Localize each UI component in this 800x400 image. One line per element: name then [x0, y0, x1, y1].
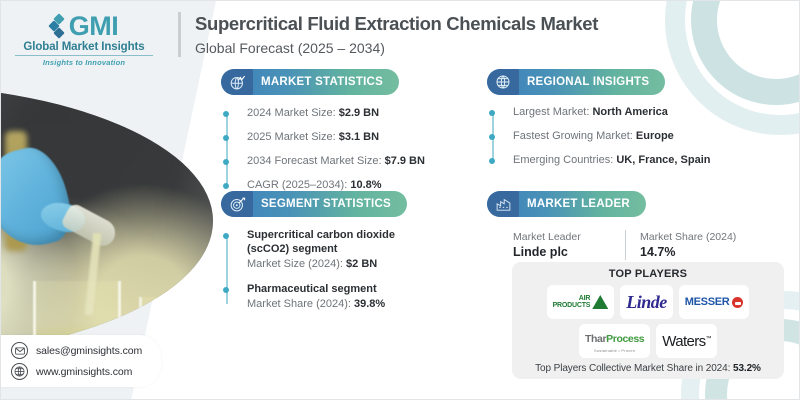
section-header-segment-statistics: SEGMENT STATISTICS — [221, 191, 407, 217]
market-share-cell: Market Share (2024) 14.7% — [625, 230, 737, 260]
lab-photo — [1, 85, 213, 357]
stat-key: 2034 Forecast Market Size: — [247, 155, 382, 167]
list-item: Pharmaceutical segment Market Share (202… — [247, 282, 432, 312]
diamonds-icon — [50, 14, 67, 40]
pill-label: MARKET LEADER — [527, 198, 630, 210]
gmi-logo: GMI Global Market Insights Insights to I… — [9, 13, 159, 67]
globe-icon — [11, 363, 28, 380]
region-key: Fastest Growing Market: — [513, 130, 633, 142]
logo-letters: GMI — [69, 13, 119, 40]
list-item: Supercritical carbon dioxide (scCO2) seg… — [247, 228, 432, 272]
logo-company-name: Global Market Insights — [9, 41, 159, 53]
stat-value: $3.1 BN — [339, 131, 379, 143]
list-item: 2034 Forecast Market Size: $7.9 BN — [247, 154, 425, 169]
list-item: Fastest Growing Market: Europe — [513, 129, 710, 144]
leader-key: Market Leader — [513, 230, 625, 244]
top-players-panel: TOP PLAYERS AIR PRODUCTS Linde MESSER — [512, 262, 784, 379]
leader-value: Linde plc — [513, 244, 625, 260]
segment-statistics-list: Supercritical carbon dioxide (scCO2) seg… — [221, 228, 432, 312]
pill-label: REGIONAL INSIGHTS — [527, 76, 649, 88]
title-main: Supercritical Fluid Extraction Chemicals… — [195, 12, 598, 35]
linde-wordmark: Linde — [626, 292, 667, 313]
waters-trademark: ™ — [706, 336, 711, 342]
player-logo-air-products: AIR PRODUCTS — [547, 285, 615, 319]
player-logo-waters: Waters™ — [656, 324, 717, 358]
segment-metric-value: $2 BN — [346, 258, 377, 270]
logo-tagline: Insights to Innovation — [9, 58, 159, 67]
segment-metric: Market Share (2024): 39.8% — [247, 297, 432, 312]
thar-part-b: Process — [606, 333, 644, 345]
contact-email-row[interactable]: sales@gminsights.com — [11, 342, 151, 359]
list-item: Emerging Countries: UK, France, Spain — [513, 153, 710, 168]
section-header-market-leader: MARKET LEADER — [487, 191, 646, 217]
factory-icon — [487, 191, 519, 217]
region-value: UK, France, Spain — [616, 154, 710, 166]
infographic-canvas: GMI Global Market Insights Insights to I… — [0, 0, 800, 400]
page-title: Supercritical Fluid Extraction Chemicals… — [178, 12, 598, 57]
segment-metric-key: Market Share (2024): — [247, 298, 351, 310]
title-subtitle: Global Forecast (2025 – 2034) — [195, 39, 598, 57]
globe-icon — [487, 69, 519, 95]
list-item: 2025 Market Size: $3.1 BN — [247, 130, 425, 145]
player-logo-linde: Linde — [620, 285, 673, 319]
stat-value: $2.9 BN — [339, 107, 379, 119]
top-players-footer: Top Players Collective Market Share in 2… — [520, 363, 776, 374]
list-item: 2024 Market Size: $2.9 BN — [247, 106, 425, 121]
thar-tagline: Sustainable • Proven — [585, 348, 644, 353]
market-statistics-list: 2024 Market Size: $2.9 BN 2025 Market Si… — [221, 106, 425, 193]
segment-heading: Supercritical carbon dioxide (scCO2) seg… — [247, 228, 432, 256]
share-key: Market Share (2024) — [640, 230, 737, 244]
footer-value: 53.2% — [733, 363, 761, 374]
contact-email[interactable]: sales@gminsights.com — [36, 345, 142, 357]
market-leader-cell: Market Leader Linde plc — [513, 230, 625, 260]
top-players-row-1: AIR PRODUCTS Linde MESSER — [520, 285, 776, 319]
share-value: 14.7% — [640, 244, 737, 260]
section-header-market-statistics: MARKET STATISTICS — [221, 69, 399, 95]
stat-key: 2024 Market Size: — [247, 107, 336, 119]
player-logo-messer: MESSER — [679, 285, 750, 319]
envelope-icon — [11, 342, 28, 359]
region-value: North America — [592, 106, 667, 118]
segment-metric-key: Market Size (2024): — [247, 258, 343, 270]
section-market-statistics: MARKET STATISTICS 2024 Market Size: $2.9… — [221, 69, 425, 193]
player-logo-thar-process: TharProcess Sustainable • Proven — [579, 324, 650, 358]
market-leader-values: Market Leader Linde plc Market Share (20… — [487, 230, 737, 260]
globe-chart-icon — [221, 69, 253, 95]
contact-card: sales@gminsights.com www.gminsights.com — [0, 335, 161, 387]
regional-insights-list: Largest Market: North America Fastest Gr… — [487, 105, 710, 168]
section-header-regional-insights: REGIONAL INSIGHTS — [487, 69, 665, 95]
contact-website[interactable]: www.gminsights.com — [36, 366, 132, 378]
waters-wordmark: Waters — [662, 333, 705, 350]
air-products-line1: AIR — [579, 295, 590, 302]
segment-heading: Pharmaceutical segment — [247, 282, 432, 296]
top-players-title: TOP PLAYERS — [520, 268, 776, 280]
messer-wordmark: MESSER — [685, 296, 730, 308]
region-key: Largest Market: — [513, 106, 589, 118]
section-regional-insights: REGIONAL INSIGHTS Largest Market: North … — [487, 69, 710, 168]
segment-metric-value: 39.8% — [354, 298, 385, 310]
list-item: Largest Market: North America — [513, 105, 710, 120]
section-segment-statistics: SEGMENT STATISTICS Supercritical carbon … — [221, 191, 432, 312]
stat-value: 10.8% — [350, 179, 381, 191]
stat-value: $7.9 BN — [385, 155, 425, 167]
messer-mark-icon — [732, 297, 743, 308]
air-products-line2: PRODUCTS — [553, 302, 591, 309]
target-icon — [221, 191, 253, 217]
pill-label: MARKET STATISTICS — [261, 76, 383, 88]
region-key: Emerging Countries: — [513, 154, 613, 166]
pill-label: SEGMENT STATISTICS — [261, 198, 391, 210]
thar-part-a: Thar — [585, 333, 606, 345]
region-value: Europe — [636, 130, 674, 142]
stat-key: 2025 Market Size: — [247, 131, 336, 143]
air-products-mark-icon — [592, 295, 608, 309]
top-players-row-2: TharProcess Sustainable • Proven Waters™ — [520, 324, 776, 358]
segment-metric: Market Size (2024): $2 BN — [247, 257, 432, 272]
contact-website-row[interactable]: www.gminsights.com — [11, 363, 151, 380]
section-market-leader: MARKET LEADER Market Leader Linde plc Ma… — [487, 191, 737, 260]
logo-divider — [15, 55, 153, 56]
footer-label: Top Players Collective Market Share in 2… — [535, 363, 730, 374]
stat-key: CAGR (2025–2034): — [247, 179, 347, 191]
